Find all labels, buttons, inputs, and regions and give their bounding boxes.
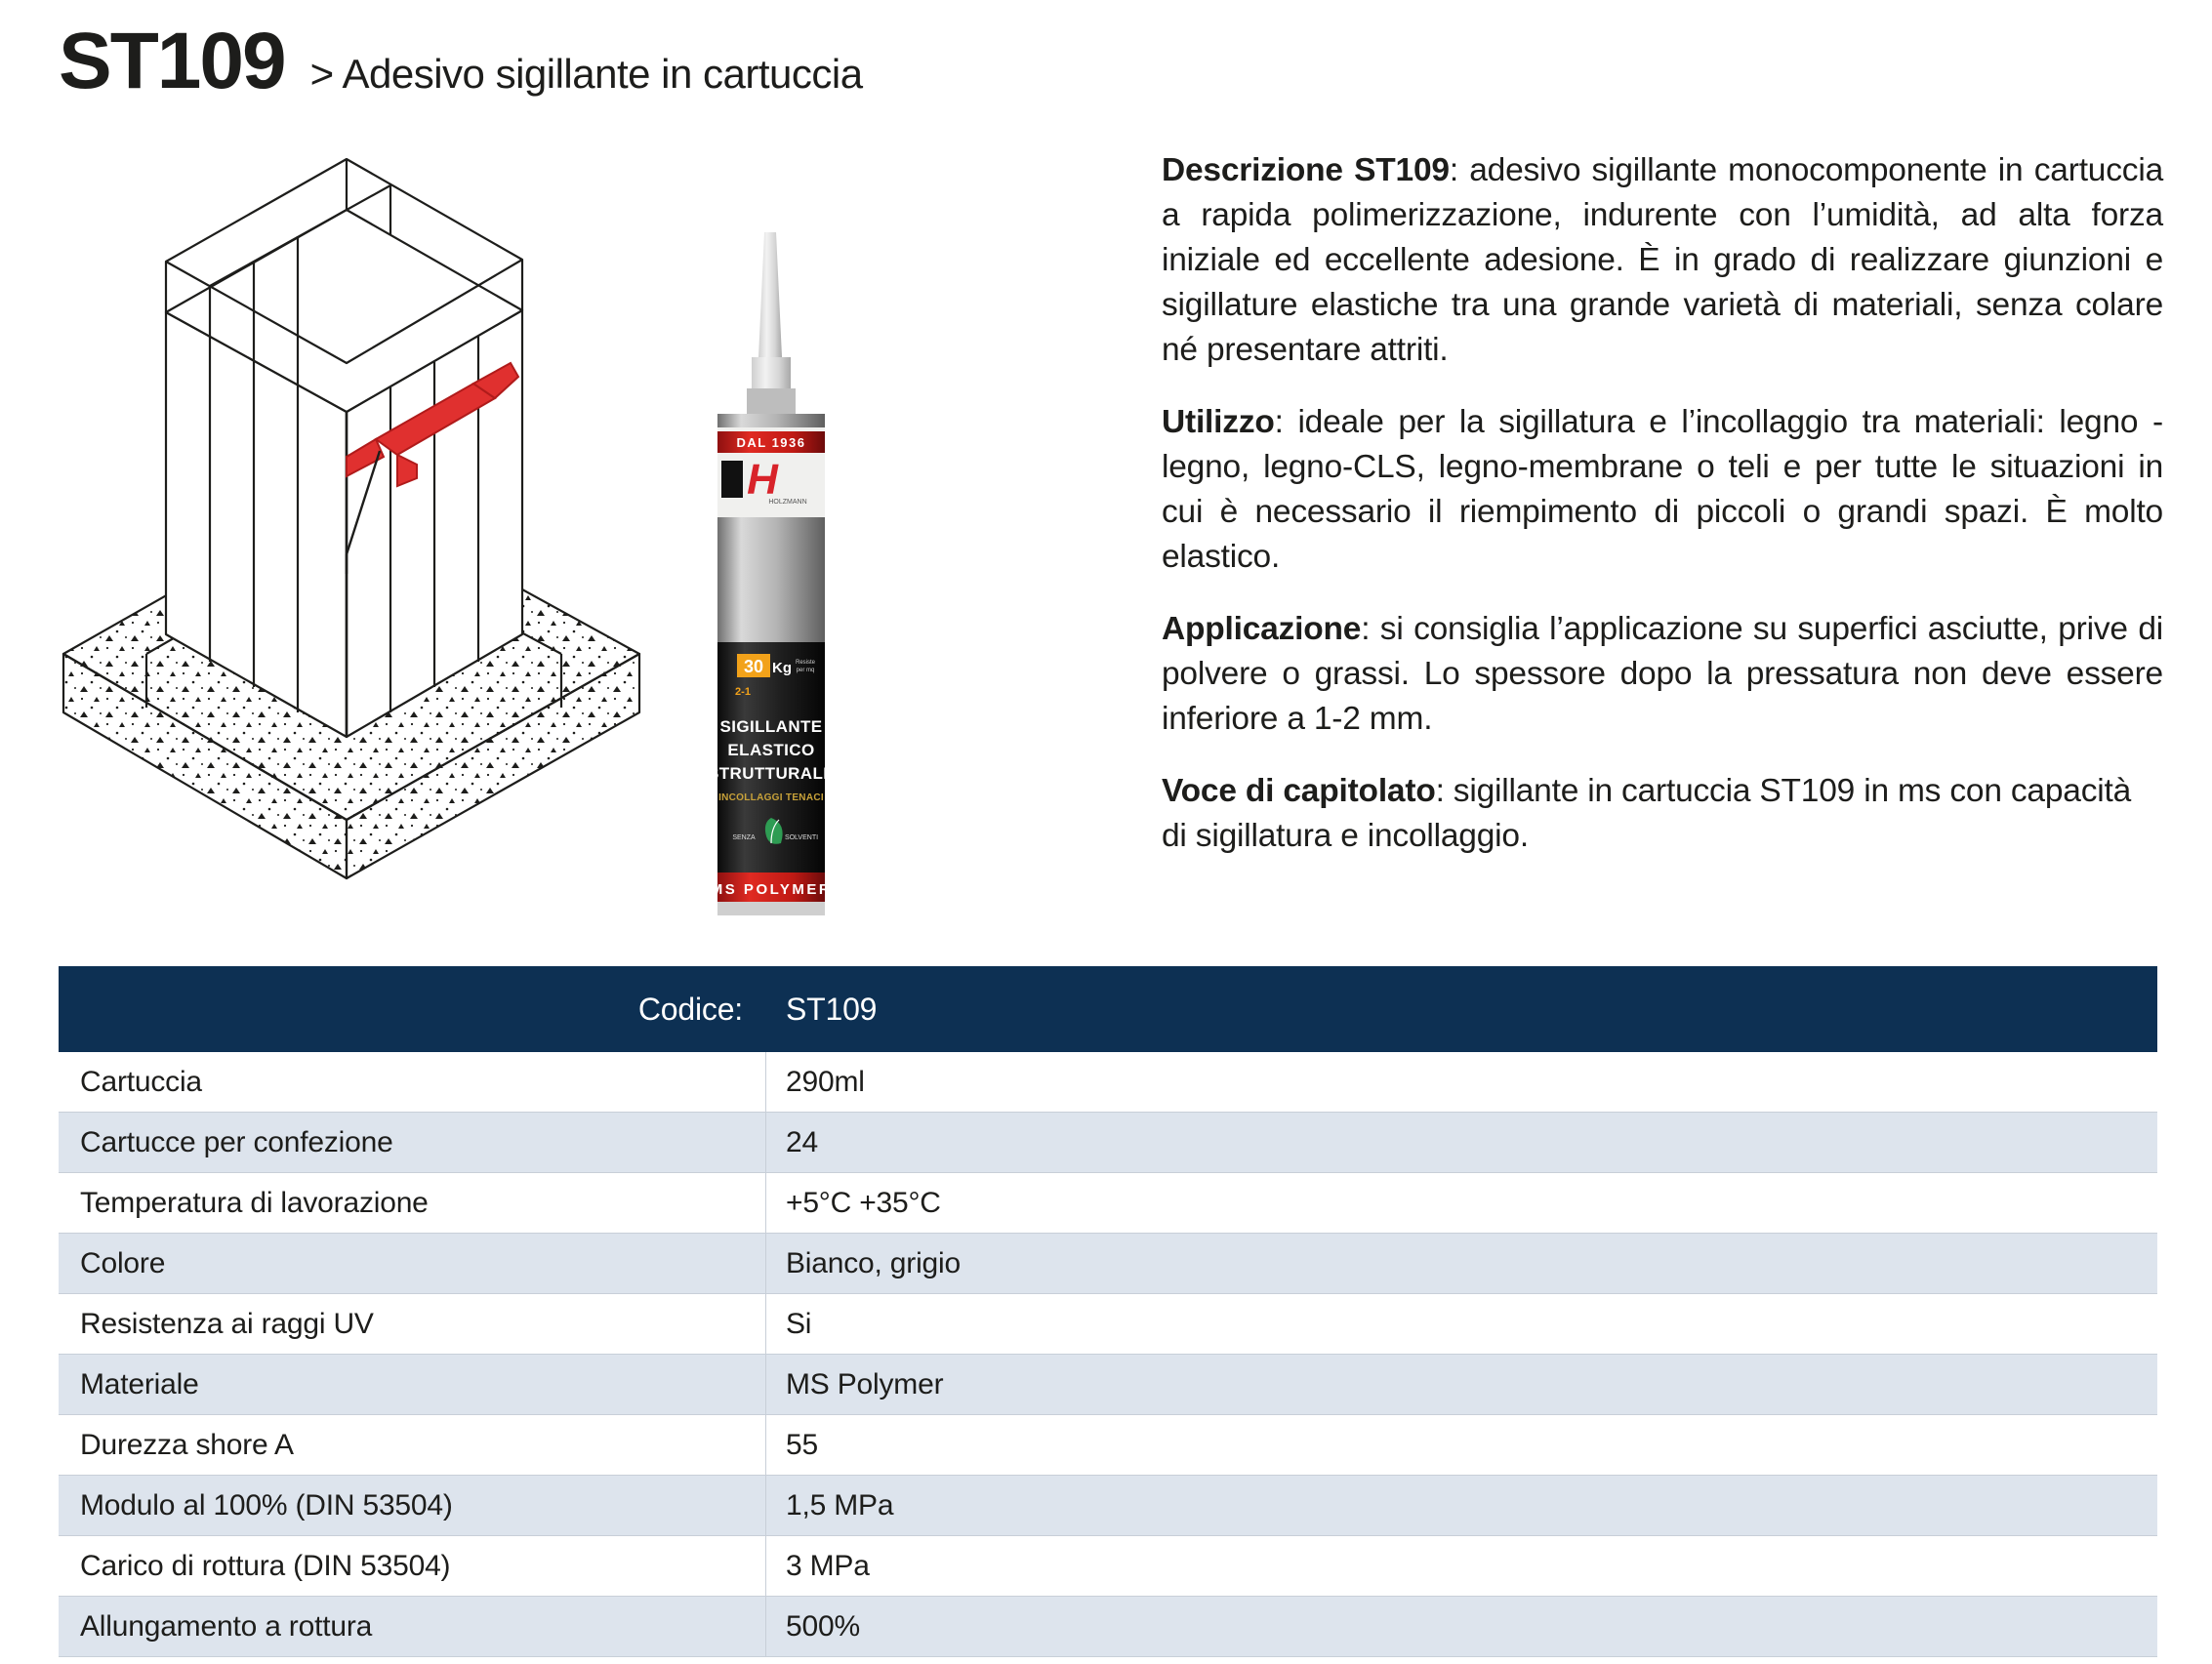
row-value: 55	[766, 1415, 2157, 1475]
row-value: 3 MPa	[766, 1536, 2157, 1596]
row-value: 500%	[766, 1597, 2157, 1656]
row-value: 1,5 MPa	[766, 1476, 2157, 1535]
svg-text:STRUTTURALE: STRUTTURALE	[708, 764, 835, 783]
table-row: Modulo al 100% (DIN 53504) 1,5 MPa	[59, 1476, 2157, 1536]
svg-text:ELASTICO: ELASTICO	[727, 741, 814, 759]
svg-text:MS POLYMER: MS POLYMER	[711, 881, 832, 898]
row-value: +5°C +35°C	[766, 1173, 2157, 1233]
datasheet-page: ST109 > Adesivo sigillante in cartuccia	[0, 0, 2212, 1664]
table-row: Cartucce per confezione 24	[59, 1113, 2157, 1173]
table-row: Cartuccia 290ml	[59, 1052, 2157, 1113]
cartridge-photo: DAL 1936 H HOLZMANN 30 Kg Resiste per mq…	[698, 232, 844, 915]
row-label: Temperatura di lavorazione	[59, 1173, 766, 1233]
isometric-wall-joint-drawing	[54, 146, 659, 908]
paragraph-title-utilizzo: Utilizzo	[1162, 404, 1275, 440]
paragraph-utilizzo: Utilizzo: ideale per la sigillatura e l’…	[1162, 400, 2163, 580]
svg-text:SENZA: SENZA	[732, 834, 756, 841]
row-value: MS Polymer	[766, 1355, 2157, 1414]
svg-text:2-1: 2-1	[735, 686, 751, 698]
row-label: Colore	[59, 1234, 766, 1293]
row-label: Materiale	[59, 1355, 766, 1414]
page-header: ST109 > Adesivo sigillante in cartuccia	[59, 21, 863, 101]
svg-text:30: 30	[744, 657, 763, 676]
table-row: Temperatura di lavorazione +5°C +35°C	[59, 1173, 2157, 1234]
row-label: Modulo al 100% (DIN 53504)	[59, 1476, 766, 1535]
svg-text:SIGILLANTE: SIGILLANTE	[719, 717, 822, 736]
page-title: ST109	[59, 21, 285, 101]
page-subtitle: > Adesivo sigillante in cartuccia	[310, 54, 863, 95]
paragraph-title-descrizione: Descrizione ST109	[1162, 152, 1450, 188]
row-label: Carico di rottura (DIN 53504)	[59, 1536, 766, 1596]
svg-text:HOLZMANN: HOLZMANN	[768, 499, 806, 506]
svg-text:Resiste: Resiste	[796, 660, 816, 666]
paragraph-body-utilizzo: : ideale per la sigillatura e l’incollag…	[1162, 404, 2163, 575]
table-header-label: Codice:	[59, 992, 766, 1028]
row-label: Cartucce per confezione	[59, 1113, 766, 1172]
row-value: Bianco, grigio	[766, 1234, 2157, 1293]
paragraph-title-voce-di-capitolato: Voce di capitolato	[1162, 773, 1436, 809]
table-header-row: Codice: ST109	[59, 966, 2157, 1052]
row-label: Resistenza ai raggi UV	[59, 1294, 766, 1354]
table-row: Materiale MS Polymer	[59, 1355, 2157, 1415]
paragraph-applicazione: Applicazione: si consiglia l’applicazion…	[1162, 607, 2163, 742]
svg-text:H: H	[747, 456, 779, 504]
paragraph-voce-di-capitolato: Voce di capitolato: sigillante in cartuc…	[1162, 769, 2163, 859]
svg-text:per mq: per mq	[797, 668, 815, 673]
paragraph-descrizione: Descrizione ST109: adesivo sigillante mo…	[1162, 148, 2163, 373]
row-value: 24	[766, 1113, 2157, 1172]
table-row: Colore Bianco, grigio	[59, 1234, 2157, 1294]
row-label: Allungamento a rottura	[59, 1597, 766, 1656]
svg-text:DAL 1936: DAL 1936	[736, 435, 805, 450]
description-column: Descrizione ST109: adesivo sigillante mo…	[1162, 148, 2163, 859]
svg-text:INCOLLAGGI TENACI: INCOLLAGGI TENACI	[718, 792, 824, 803]
table-row: Durezza shore A 55	[59, 1415, 2157, 1476]
svg-text:Kg: Kg	[772, 660, 792, 676]
row-label: Durezza shore A	[59, 1415, 766, 1475]
table-header-value: ST109	[766, 992, 2157, 1028]
row-label: Cartuccia	[59, 1052, 766, 1112]
table-row: Resistenza ai raggi UV Si	[59, 1294, 2157, 1355]
table-row: Carico di rottura (DIN 53504) 3 MPa	[59, 1536, 2157, 1597]
paragraph-title-applicazione: Applicazione	[1162, 611, 1361, 647]
specification-table: Codice: ST109 Cartuccia 290ml Cartucce p…	[59, 966, 2157, 1657]
svg-text:SOLVENTI: SOLVENTI	[785, 834, 818, 841]
table-row: Allungamento a rottura 500%	[59, 1597, 2157, 1657]
row-value: Si	[766, 1294, 2157, 1354]
row-value: 290ml	[766, 1052, 2157, 1112]
